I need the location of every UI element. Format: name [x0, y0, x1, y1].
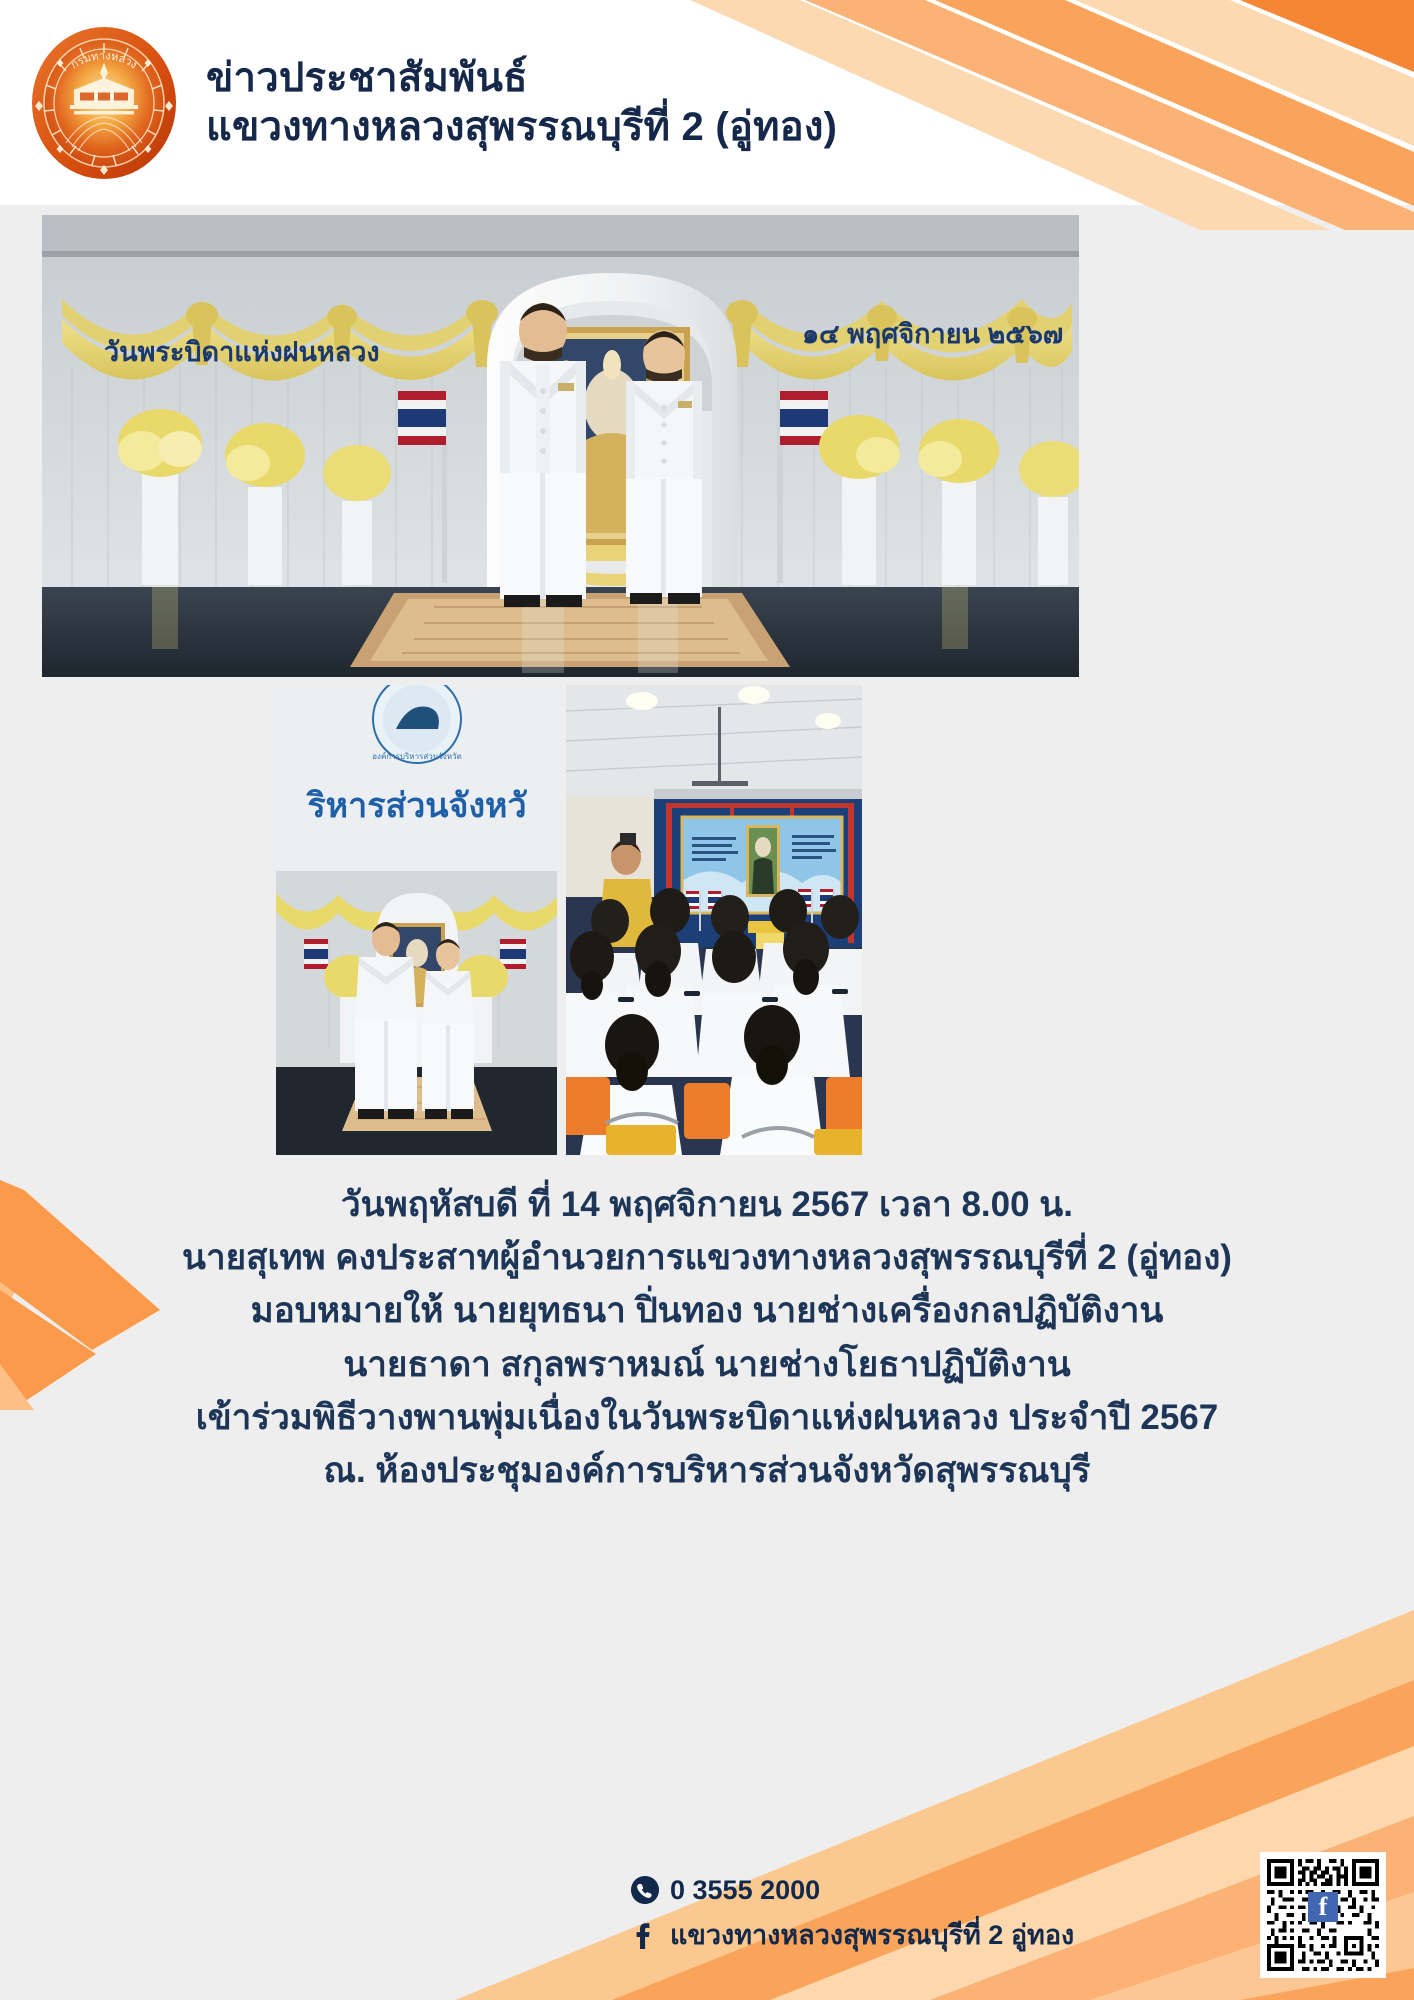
facebook-qr-code[interactable]: f [1260, 1852, 1386, 1978]
facebook-icon [628, 1917, 662, 1951]
body-line-2: นายสุเทพ คงประสาทผู้อำนวยการแขวงทางหลวงส… [0, 1231, 1414, 1284]
ceremony-stage-group-photo: วันพระบิดาแห่งฝนหลวง ๑๔ พฤศจิกายน ๒๕๖๗ [42, 215, 1079, 677]
ceremony-audience-photo [566, 685, 862, 1155]
page-title-line2: แขวงทางหลวงสุพรรณบุรีที่ 2 (อู่ทอง) [206, 103, 837, 152]
phone-number: 0 3555 2000 [670, 1875, 820, 1906]
qr-facebook-badge: f [1308, 1892, 1338, 1922]
body-line-3: มอบหมายให้ นายยุทธนา ปิ่นทอง นายช่างเครื… [0, 1284, 1414, 1337]
body-line-5: เข้าร่วมพิธีวางพานพุ่มเนื่องในวันพระบิดา… [0, 1391, 1414, 1444]
sign-text: ริหารส่วนจังหวั [306, 787, 528, 825]
provincial-hall-sign-photo: องค์การบริหารส่วนจังหวัด ริหารส่วนจังหวั [276, 685, 557, 1155]
body-line-6: ณ. ห้องประชุมองค์การบริหารส่วนจังหวัดสุพ… [0, 1444, 1414, 1497]
poster-canvas: กรมทางหลวง ข่าวประชาสัมพันธ์ แขวงทางหลวง… [0, 0, 1414, 2000]
body-line-1: วันพฤหัสบดี ที่ 14 พฤศจิกายน 2567 เวลา 8… [0, 1178, 1414, 1231]
header-title-block: ข่าวประชาสัมพันธ์ แขวงทางหลวงสุพรรณบุรีท… [206, 54, 837, 152]
page-title-line1: ข่าวประชาสัมพันธ์ [206, 54, 837, 103]
photo-banner-right-text: ๑๔ พฤศจิกายน ๒๕๖๗ [802, 319, 1063, 349]
facebook-row[interactable]: แขวงทางหลวงสุพรรณบุรีที่ 2 อู่ทอง [628, 1912, 1074, 1956]
facebook-page-name: แขวงทางหลวงสุพรรณบุรีที่ 2 อู่ทอง [670, 1913, 1074, 1956]
department-of-highways-seal-icon: กรมทางหลวง [24, 23, 184, 183]
phone-icon [628, 1873, 662, 1907]
photo-banner-left-text: วันพระบิดาแห่งฝนหลวง [104, 337, 380, 367]
poster-header: กรมทางหลวง ข่าวประชาสัมพันธ์ แขวงทางหลวง… [0, 0, 1414, 205]
phone-row: 0 3555 2000 [628, 1868, 1074, 1912]
announcement-body: วันพฤหัสบดี ที่ 14 พฤศจิกายน 2567 เวลา 8… [0, 1178, 1414, 1497]
poster-footer: 0 3555 2000 แขวงทางหลวงสุพรรณบุรีที่ 2 อ… [0, 1856, 1414, 1986]
svg-text:องค์การบริหารส่วนจังหวัด: องค์การบริหารส่วนจังหวัด [372, 751, 462, 761]
contact-block: 0 3555 2000 แขวงทางหลวงสุพรรณบุรีที่ 2 อ… [628, 1868, 1074, 1956]
body-line-4: นายธาดา สกุลพราหมณ์ นายช่างโยธาปฏิบัติงา… [0, 1338, 1414, 1391]
